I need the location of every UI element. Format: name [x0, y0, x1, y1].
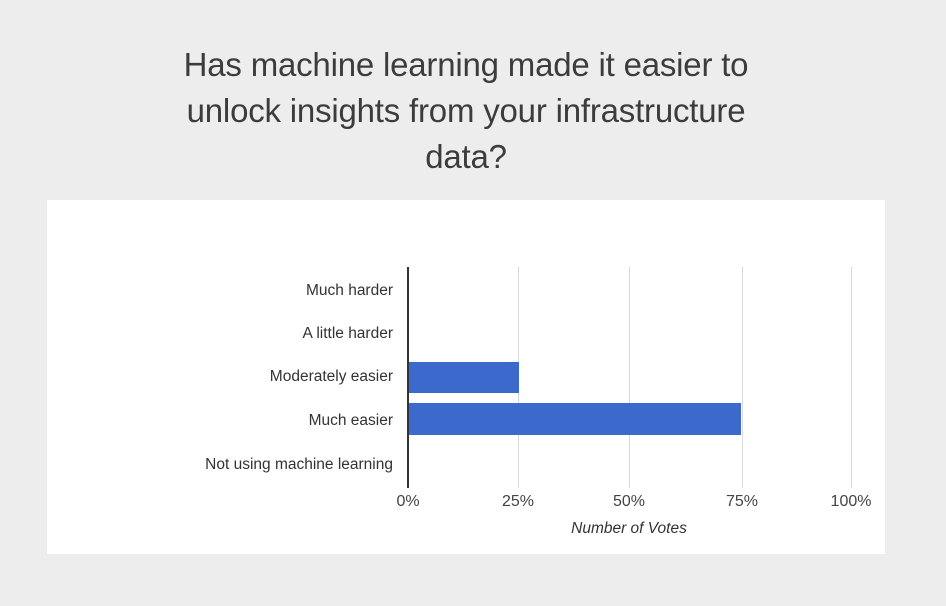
chart-title-line-3: data? — [60, 134, 872, 180]
chart-card: Much harder A little harder Moderately e… — [47, 200, 885, 554]
chart-title-line-1: Has machine learning made it easier to — [60, 42, 872, 88]
category-label-not-using-machine-learning: Not using machine learning — [205, 456, 393, 474]
xtick-label-75: 75% — [726, 493, 758, 511]
category-label-moderately-easier: Moderately easier — [270, 368, 393, 386]
xtick-label-0: 0% — [396, 493, 419, 511]
bar-much-easier — [409, 403, 741, 435]
xtick-label-100: 100% — [831, 493, 872, 511]
chart-title-line-2: unlock insights from your infrastructure — [60, 88, 872, 134]
plot-area: Much harder A little harder Moderately e… — [47, 200, 885, 554]
gridline-50 — [629, 267, 630, 488]
chart-title: Has machine learning made it easier to u… — [60, 42, 872, 180]
gridline-100 — [851, 267, 852, 488]
xtick-label-50: 50% — [613, 493, 645, 511]
x-axis-title: Number of Votes — [47, 520, 885, 538]
category-label-much-easier: Much easier — [309, 412, 393, 430]
x-axis-title-text: Number of Votes — [571, 520, 687, 537]
bar-moderately-easier — [409, 362, 519, 393]
xtick-label-25: 25% — [502, 493, 534, 511]
gridline-75 — [742, 267, 743, 488]
category-label-much-harder: Much harder — [306, 282, 393, 300]
category-label-a-little-harder: A little harder — [303, 325, 393, 343]
